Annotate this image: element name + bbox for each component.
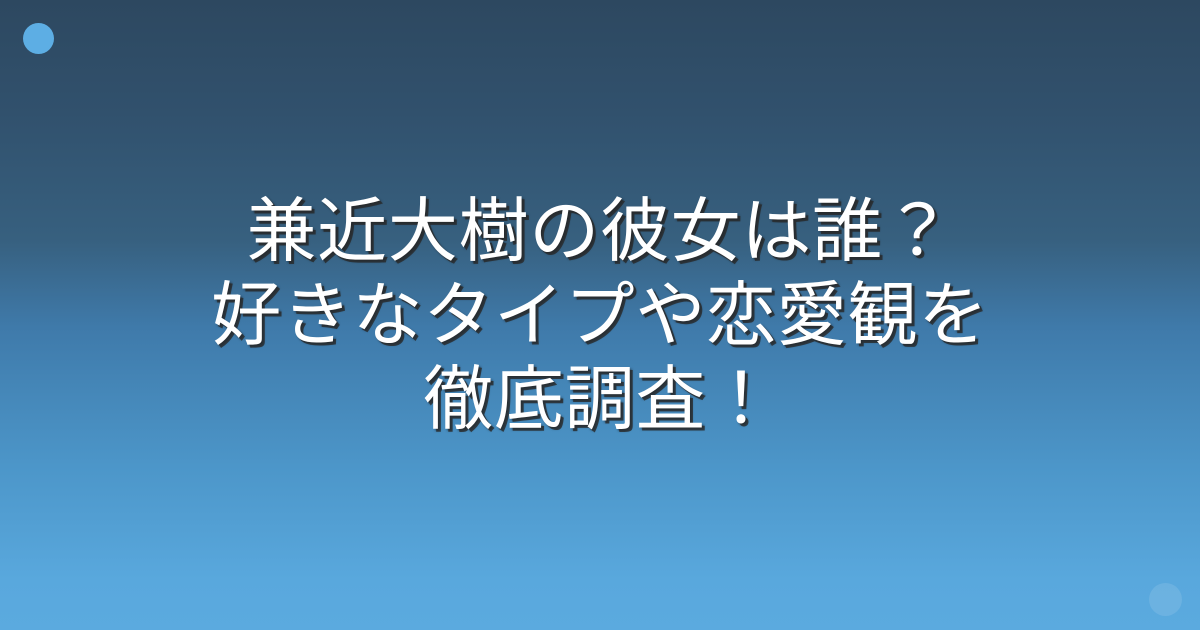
ogp-card: 兼近大樹の彼女は誰？ 好きなタイプや恋愛観を 徹底調査！ [0,0,1200,630]
page-title-line-2: 好きなタイプや恋愛観を [211,273,989,357]
page-title: 兼近大樹の彼女は誰？ 好きなタイプや恋愛観を 徹底調査！ [211,189,989,441]
page-title-line-3: 徹底調査！ [211,357,989,441]
title-block: 兼近大樹の彼女は誰？ 好きなタイプや恋愛観を 徹底調査！ [0,0,1200,630]
page-title-line-1: 兼近大樹の彼女は誰？ [211,189,989,273]
